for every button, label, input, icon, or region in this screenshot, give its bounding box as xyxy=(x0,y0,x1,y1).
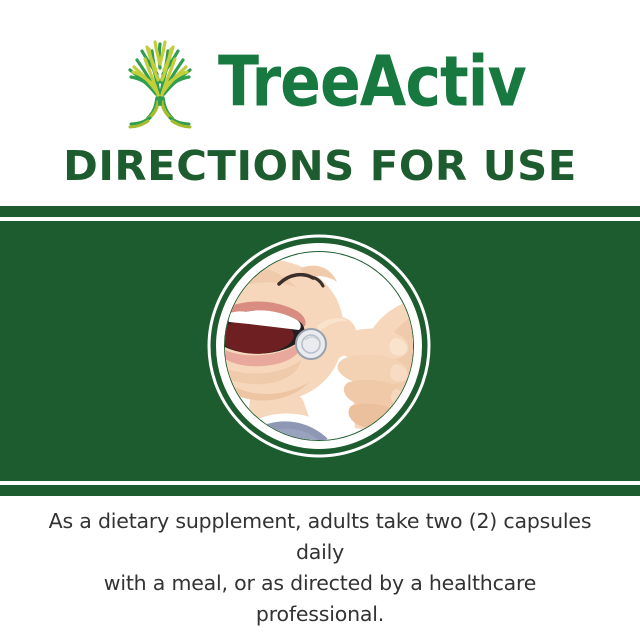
woman-taking-capsule-icon xyxy=(205,232,433,460)
instructions-line-2: with a meal, or as directed by a healthc… xyxy=(40,568,600,630)
instructions-text: As a dietary supplement, adults take two… xyxy=(40,506,600,630)
instructions-line-1: As a dietary supplement, adults take two… xyxy=(40,506,600,568)
bottom-accent-rule xyxy=(0,485,640,496)
product-directions-graphic: TreeActiv DIRECTIONS FOR USE xyxy=(0,0,640,640)
brand-logo: TreeActiv xyxy=(0,22,640,137)
top-accent-rule xyxy=(0,206,640,217)
brand-wordmark: TreeActiv xyxy=(218,47,526,116)
page-title: DIRECTIONS FOR USE xyxy=(0,142,640,190)
tree-icon xyxy=(104,24,216,136)
